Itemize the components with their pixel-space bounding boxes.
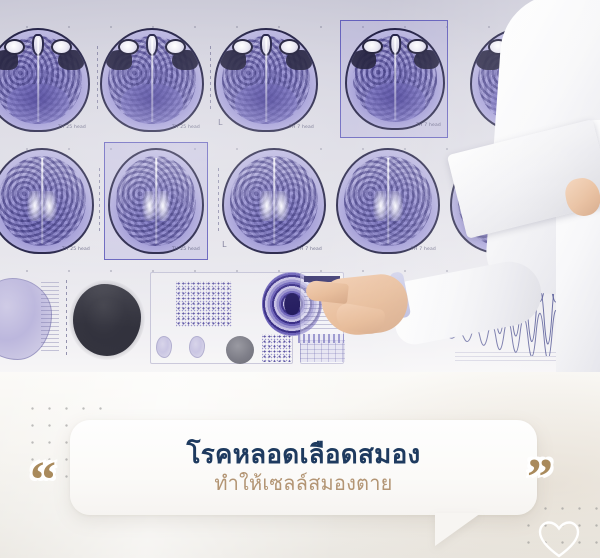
scan-label: TH 7 head <box>297 247 322 252</box>
small-blob-a <box>156 336 172 358</box>
scale-ruler-3 <box>99 168 100 234</box>
scan-label: TH 25 head <box>58 125 86 130</box>
orbit-right <box>165 39 186 55</box>
quote-close-icon: ” <box>527 452 553 504</box>
skull-outline-icon <box>345 28 445 130</box>
orientation-marker-l2: L <box>222 240 227 249</box>
brain-scan-r1c3[interactable]: TH 7 head <box>214 28 318 132</box>
skull-outline-icon <box>0 148 94 254</box>
scan-label: TH 25 head <box>62 247 90 252</box>
quote-bubble-text: โรคหลอดเลือดสมอง ทำให้เซลล์สมองตาย <box>70 420 537 515</box>
orientation-marker-l1: L <box>218 118 223 127</box>
orbit-left <box>232 39 253 55</box>
quote-bubble-tail <box>435 513 481 546</box>
brain-scan-r2c2[interactable]: TH 25 head <box>108 148 204 254</box>
skull-outline-icon <box>0 28 90 132</box>
scan-label: TH 7 head <box>289 125 314 130</box>
heart-icon <box>537 520 581 558</box>
midline <box>41 158 43 244</box>
mini-data-table <box>300 340 345 362</box>
midline <box>151 38 153 122</box>
brain-scan-r2c3[interactable]: TH 7 head <box>222 148 326 254</box>
orbit-right <box>51 39 72 55</box>
brain-scan-r1c4[interactable]: TH 7 head <box>345 28 445 130</box>
brain-scan-r2c1[interactable]: TH 25 head <box>0 148 94 254</box>
brain-scan-r1c2[interactable]: TH 25 head <box>100 28 204 132</box>
scan-label: TH 7 head <box>416 123 441 128</box>
quote-open-icon: “ <box>30 455 56 507</box>
dark-necrosis-blob <box>73 284 141 356</box>
midline <box>394 38 396 120</box>
scan-label: TH 25 head <box>172 247 200 252</box>
brain-scan-r1c1[interactable]: TH 25 head <box>0 28 90 132</box>
panel-ruler <box>66 280 67 356</box>
speckle-scatter-small <box>262 334 292 362</box>
midline <box>155 158 157 244</box>
scan-label: TH 7 head <box>411 247 436 252</box>
skull-outline-icon <box>336 148 440 254</box>
lightbox-photo: TH 25 head TH 25 head TH 7 head <box>0 0 600 374</box>
panel-text-lines-left <box>41 282 59 354</box>
skull-outline-icon <box>214 28 318 132</box>
midline <box>387 158 389 244</box>
small-blob-b <box>189 336 205 358</box>
skull-outline-icon <box>222 148 326 254</box>
orbit-left <box>118 39 139 55</box>
orbit-left <box>4 39 25 55</box>
midline <box>37 38 39 122</box>
scale-ruler-4 <box>218 168 219 234</box>
speckle-cell-scatter <box>176 281 232 327</box>
midline <box>265 38 267 122</box>
brain-scan-r2c4[interactable]: TH 7 head <box>336 148 440 254</box>
scale-ruler-1 <box>97 46 98 110</box>
orbit-right <box>407 39 427 55</box>
skull-outline-icon <box>100 28 204 132</box>
bar-chart-strip <box>298 334 344 343</box>
scale-ruler-2 <box>210 46 211 110</box>
quote-headline: โรคหลอดเลือดสมอง <box>186 439 420 470</box>
gray-sphere <box>226 336 254 364</box>
quote-subline: ทำให้เซลล์สมองตาย <box>214 472 392 496</box>
skull-outline-icon <box>108 148 204 254</box>
orbit-right <box>279 39 300 55</box>
scan-label: TH 25 head <box>172 125 200 130</box>
orbit-left <box>362 39 382 55</box>
midline <box>273 158 275 244</box>
quote-bubble: โรคหลอดเลือดสมอง ทำให้เซลล์สมองตาย <box>70 420 537 515</box>
